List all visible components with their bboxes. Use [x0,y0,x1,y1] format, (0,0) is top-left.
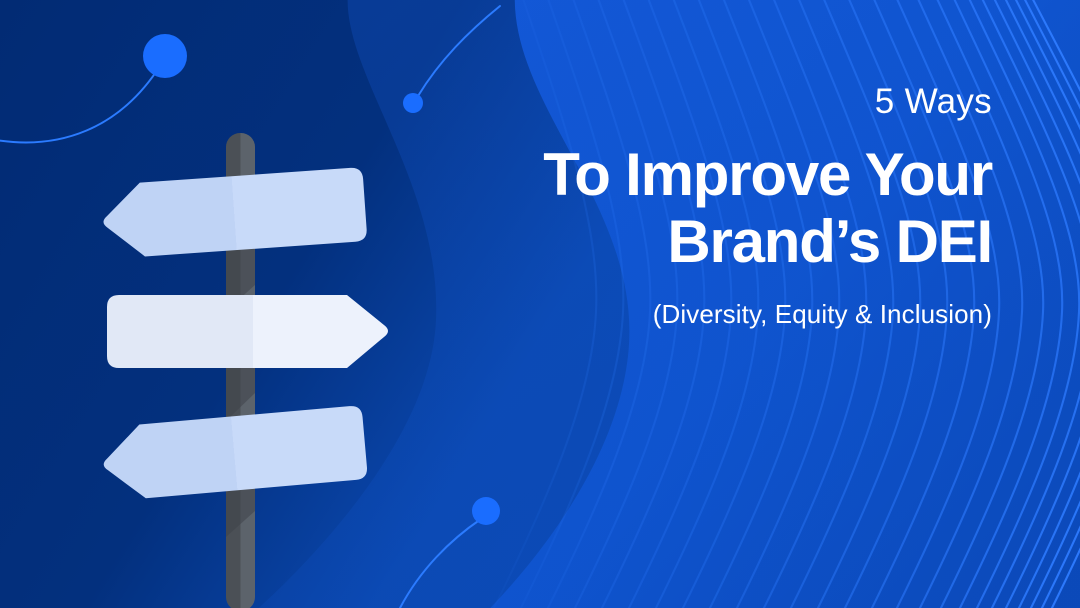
sign-middle [107,295,388,368]
headline-text-block: 5 Ways To Improve Your Brand’s DEI (Dive… [352,84,992,327]
headline-line-2: Brand’s DEI [352,208,992,275]
headline-line-1: To Improve Your [352,141,992,208]
eyebrow-label: 5 Ways [352,84,992,119]
sign-bottom [101,405,368,502]
dot-lower-mid [472,497,500,525]
sign-top [101,167,368,259]
dot-top-left [143,34,187,78]
subtitle-label: (Diversity, Equity & Inclusion) [352,301,992,327]
dei-banner: 5 Ways To Improve Your Brand’s DEI (Dive… [0,0,1080,608]
